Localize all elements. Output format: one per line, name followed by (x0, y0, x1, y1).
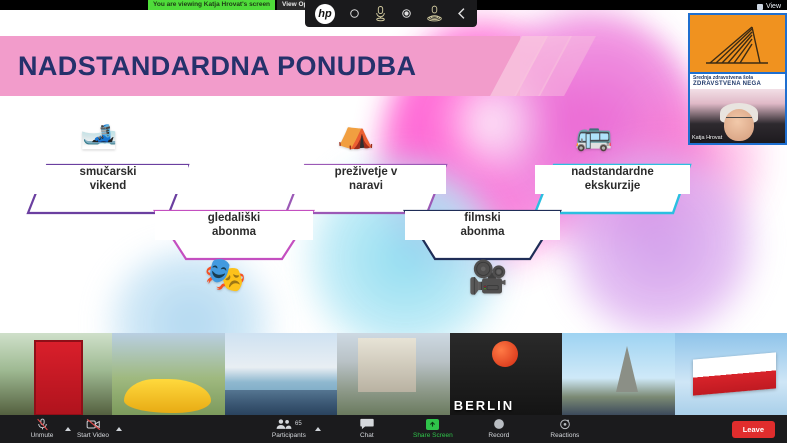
share-icon (426, 418, 439, 431)
start-video-button[interactable]: Start Video (73, 418, 113, 441)
participants-count: 65 (295, 421, 302, 427)
camera-icon[interactable] (348, 7, 361, 20)
participants-label: Participants (272, 432, 306, 439)
viewing-screen-banner: You are viewing Katja Hrovat's screen (148, 0, 275, 10)
chevron-label-line2: abonma (212, 225, 256, 239)
photo-paris-eiffel-group (562, 333, 674, 415)
chevron-label-line2: abonma (460, 225, 504, 239)
chevron-label-line1: preživetje v (335, 165, 398, 179)
participants-button[interactable]: 65 Participants (269, 418, 309, 441)
view-label: View (766, 3, 781, 10)
bus-icon: 🚌 (575, 121, 612, 151)
avatar (724, 109, 754, 141)
emoji-icon (559, 418, 571, 431)
chevron-filmski-abonma[interactable]: filmski abonma (405, 211, 560, 240)
tile-slide-title: ZDRAVSTVENA NEGA (693, 81, 782, 89)
view-options-label: View Op (282, 1, 308, 8)
unmute-button[interactable]: Unmute (22, 418, 62, 441)
chevron-label-line1: gledališki (208, 211, 260, 225)
bridge-graphic-icon (700, 21, 778, 69)
chevron-label-line1: nadstandardne (571, 165, 653, 179)
zoom-meeting-window: NADSTANDARDNA PONUDBA smučarski vikend p… (0, 0, 787, 443)
camping-tent-icon: ⛺ (337, 119, 374, 149)
tile-slide-header: Srednja zdravstvena šola ZDRAVSTVENA NEG… (690, 74, 785, 89)
audio-options-caret-icon[interactable] (65, 427, 71, 431)
record-icon (493, 418, 505, 431)
chevron-smucarski-vikend[interactable]: smučarski vikend (28, 165, 188, 194)
share-screen-label: Share Screen (413, 432, 453, 439)
photo-venice-lagoon (225, 333, 337, 415)
photo-poland-flag (675, 333, 787, 415)
record-button[interactable]: Record (479, 418, 519, 441)
viewing-screen-text: You are viewing Katja Hrovat's screen (153, 0, 270, 10)
chevron-label-line2: naravi (349, 179, 383, 193)
participant-tile-shared-content[interactable] (688, 13, 787, 75)
hp-camera-overlay: hp (305, 0, 477, 27)
photo-pisa-tower-group (337, 333, 449, 415)
ski-boot-icon: 🎿 (80, 119, 117, 149)
glasses-icon (726, 117, 752, 123)
theater-masks-icon: 🎭 (204, 258, 246, 292)
start-video-label: Start Video (77, 432, 109, 439)
record-label: Record (488, 432, 509, 439)
photo-strip: BERLIN (0, 333, 787, 415)
participant-tiles: View Srednja zdravstvena šola ZDRAVSTVEN… (688, 0, 787, 145)
chevron-nadstandardne-ekskurzije[interactable]: nadstandardne ekskurzije (535, 165, 690, 194)
participants-caret-icon[interactable] (315, 427, 321, 431)
chevron-label-line1: smučarski (80, 165, 137, 179)
video-muted-icon (86, 418, 101, 431)
film-camera-icon: 🎥 (468, 261, 508, 293)
chat-label: Chat (360, 432, 374, 439)
participant-tile-speaker[interactable]: Srednja zdravstvena šola ZDRAVSTVENA NEG… (688, 72, 787, 145)
chat-button[interactable]: Chat (347, 418, 387, 441)
collapse-icon[interactable] (456, 7, 467, 20)
people-icon: 65 (276, 418, 302, 431)
view-button[interactable]: View (757, 3, 781, 10)
slide-title-band: NADSTANDARDNA PONUDBA (0, 36, 520, 96)
chevron-gledaliski-abonma[interactable]: gledališki abonma (155, 211, 313, 240)
chevron-label-line2: ekskurzije (585, 179, 641, 193)
microphone-muted-icon (36, 418, 49, 431)
chevron-label-line2: vikend (90, 179, 126, 193)
photo-netherlands-clog (112, 333, 224, 415)
record-icon[interactable] (400, 7, 413, 20)
page-title: NADSTANDARDNA PONUDBA (0, 51, 416, 82)
speaker-icon[interactable] (426, 5, 443, 22)
video-options-caret-icon[interactable] (116, 427, 122, 431)
photo-london-phone-box (0, 333, 112, 415)
share-screen-button[interactable]: Share Screen (413, 418, 453, 441)
reactions-button[interactable]: Reactions (545, 418, 585, 441)
hp-logo-icon: hp (315, 4, 335, 24)
participant-name: Katja Hrovat (692, 135, 722, 141)
chat-icon (360, 418, 374, 431)
chevron-prezivetje-v-naravi[interactable]: preživetje v naravi (286, 165, 446, 194)
reactions-label: Reactions (550, 432, 579, 439)
photo-berlin-wall: BERLIN (450, 333, 562, 415)
grid-icon (757, 4, 763, 10)
unmute-label: Unmute (31, 432, 54, 439)
shared-screen-slide: NADSTANDARDNA PONUDBA smučarski vikend p… (0, 8, 787, 415)
tile-artwork (700, 21, 778, 69)
meeting-toolbar: Unmute Start Video (0, 415, 787, 443)
chevron-diagram: smučarski vikend preživetje v naravi nad… (0, 103, 700, 263)
chevron-label-line1: filmski (464, 211, 500, 225)
microphone-icon[interactable] (374, 5, 387, 22)
leave-button[interactable]: Leave (732, 421, 775, 438)
photo-caption: BERLIN (454, 398, 514, 413)
